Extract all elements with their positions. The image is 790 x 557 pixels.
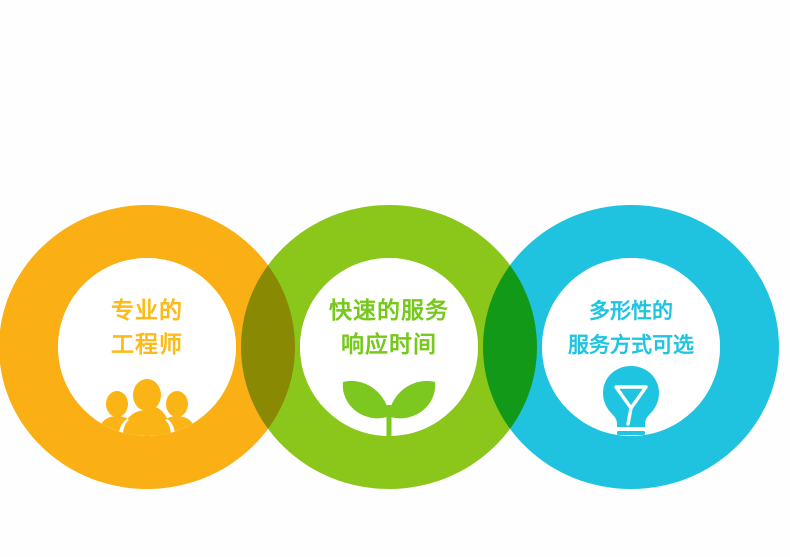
people-group-icon — [95, 376, 199, 436]
lightbulb-icon — [595, 364, 667, 436]
label-line-1: 多形性的 — [589, 299, 673, 323]
label-line-2: 服务方式可选 — [568, 333, 694, 357]
label-line-1: 快速的服务 — [329, 298, 449, 324]
label-line-2: 响应时间 — [341, 332, 437, 358]
circle-card-response-time-label: 快速的服务响应时间 — [300, 294, 478, 362]
circle-card-service-options-label: 多形性的服务方式可选 — [542, 294, 720, 362]
label-line-2: 工程师 — [111, 332, 183, 358]
circle-card-engineers-label: 专业的工程师 — [58, 294, 236, 362]
circle-card-service-options[interactable]: 多形性的服务方式可选 — [542, 258, 720, 436]
lightbulb-icon-wrap — [542, 364, 720, 436]
poster-canvas: 高效专业用心 — [0, 0, 790, 557]
sprout-icon-wrap — [300, 370, 478, 436]
circle-card-response-time[interactable]: 快速的服务响应时间 — [300, 258, 478, 436]
people-group-icon-wrap — [58, 376, 236, 436]
sprout-icon — [335, 370, 443, 436]
label-line-1: 专业的 — [111, 298, 183, 324]
circle-card-engineers[interactable]: 专业的工程师 — [58, 258, 236, 436]
